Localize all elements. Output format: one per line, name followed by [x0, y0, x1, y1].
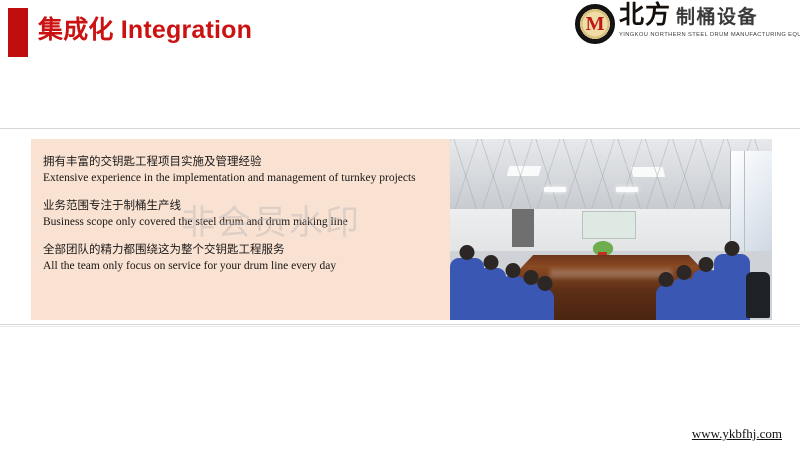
bullet-paragraph: 拥有丰富的交钥匙工程项目实施及管理经验 Extensive experience…	[43, 153, 434, 186]
logo-subtitle-cn: 制桶设备	[676, 8, 758, 27]
photo-person	[656, 285, 676, 320]
title-accent-bar	[8, 8, 28, 57]
photo-ceiling-lamp	[544, 187, 566, 192]
company-logo: M 北方 制桶设备 YINGKOU NORTHERN STEEL DRUM MA…	[575, 3, 794, 47]
logo-text-block: 北方 制桶设备 YINGKOU NORTHERN STEEL DRUM MANU…	[619, 3, 794, 35]
slide-header: 集成化 Integration M 北方 制桶设备 YINGKOU NORTHE…	[0, 0, 800, 58]
paragraph-en: All the team only focus on service for y…	[43, 258, 434, 274]
photo-people-right	[654, 231, 750, 320]
content-row: 非会员水印 拥有丰富的交钥匙工程项目实施及管理经验 Extensive expe…	[31, 139, 772, 320]
bullet-paragraph: 全部团队的精力都围绕这为整个交钥匙工程服务 All the team only …	[43, 241, 434, 274]
text-panel: 非会员水印 拥有丰富的交钥匙工程项目实施及管理经验 Extensive expe…	[31, 139, 450, 320]
bullet-paragraph: 业务范围专注于制桶生产线 Business scope only covered…	[43, 197, 434, 230]
paragraph-en: Business scope only covered the steel dr…	[43, 214, 434, 230]
logo-emblem-letter: M	[576, 14, 614, 34]
page-title: 集成化 Integration	[38, 13, 252, 47]
photo-chair	[746, 272, 770, 318]
divider-bottom	[0, 324, 800, 325]
slide: 集成化 Integration M 北方 制桶设备 YINGKOU NORTHE…	[0, 0, 800, 450]
divider-bottom-secondary	[0, 326, 800, 327]
photo-ceiling-lamp	[616, 187, 638, 192]
paragraph-cn: 全部团队的精力都围绕这为整个交钥匙工程服务	[43, 241, 434, 258]
paragraph-cn: 业务范围专注于制桶生产线	[43, 197, 434, 214]
paragraph-cn: 拥有丰富的交钥匙工程项目实施及管理经验	[43, 153, 434, 170]
photo-person	[692, 270, 720, 320]
divider-top	[0, 128, 800, 129]
footer-website-link[interactable]: www.ykbfhj.com	[692, 426, 782, 442]
paragraph-en: Extensive experience in the implementati…	[43, 170, 434, 186]
logo-english-name: YINGKOU NORTHERN STEEL DRUM MANUFACTURIN…	[619, 31, 800, 37]
photo-ceiling-grid	[450, 139, 772, 213]
photo-person	[536, 289, 554, 320]
photo-people-left	[450, 231, 546, 320]
photo-projector-screen	[582, 211, 636, 239]
logo-chinese-name: 北方 制桶设备	[619, 3, 794, 28]
logo-emblem-icon: M	[575, 4, 615, 44]
logo-brand-cn: 北方	[619, 3, 671, 28]
meeting-room-photo	[450, 139, 772, 320]
